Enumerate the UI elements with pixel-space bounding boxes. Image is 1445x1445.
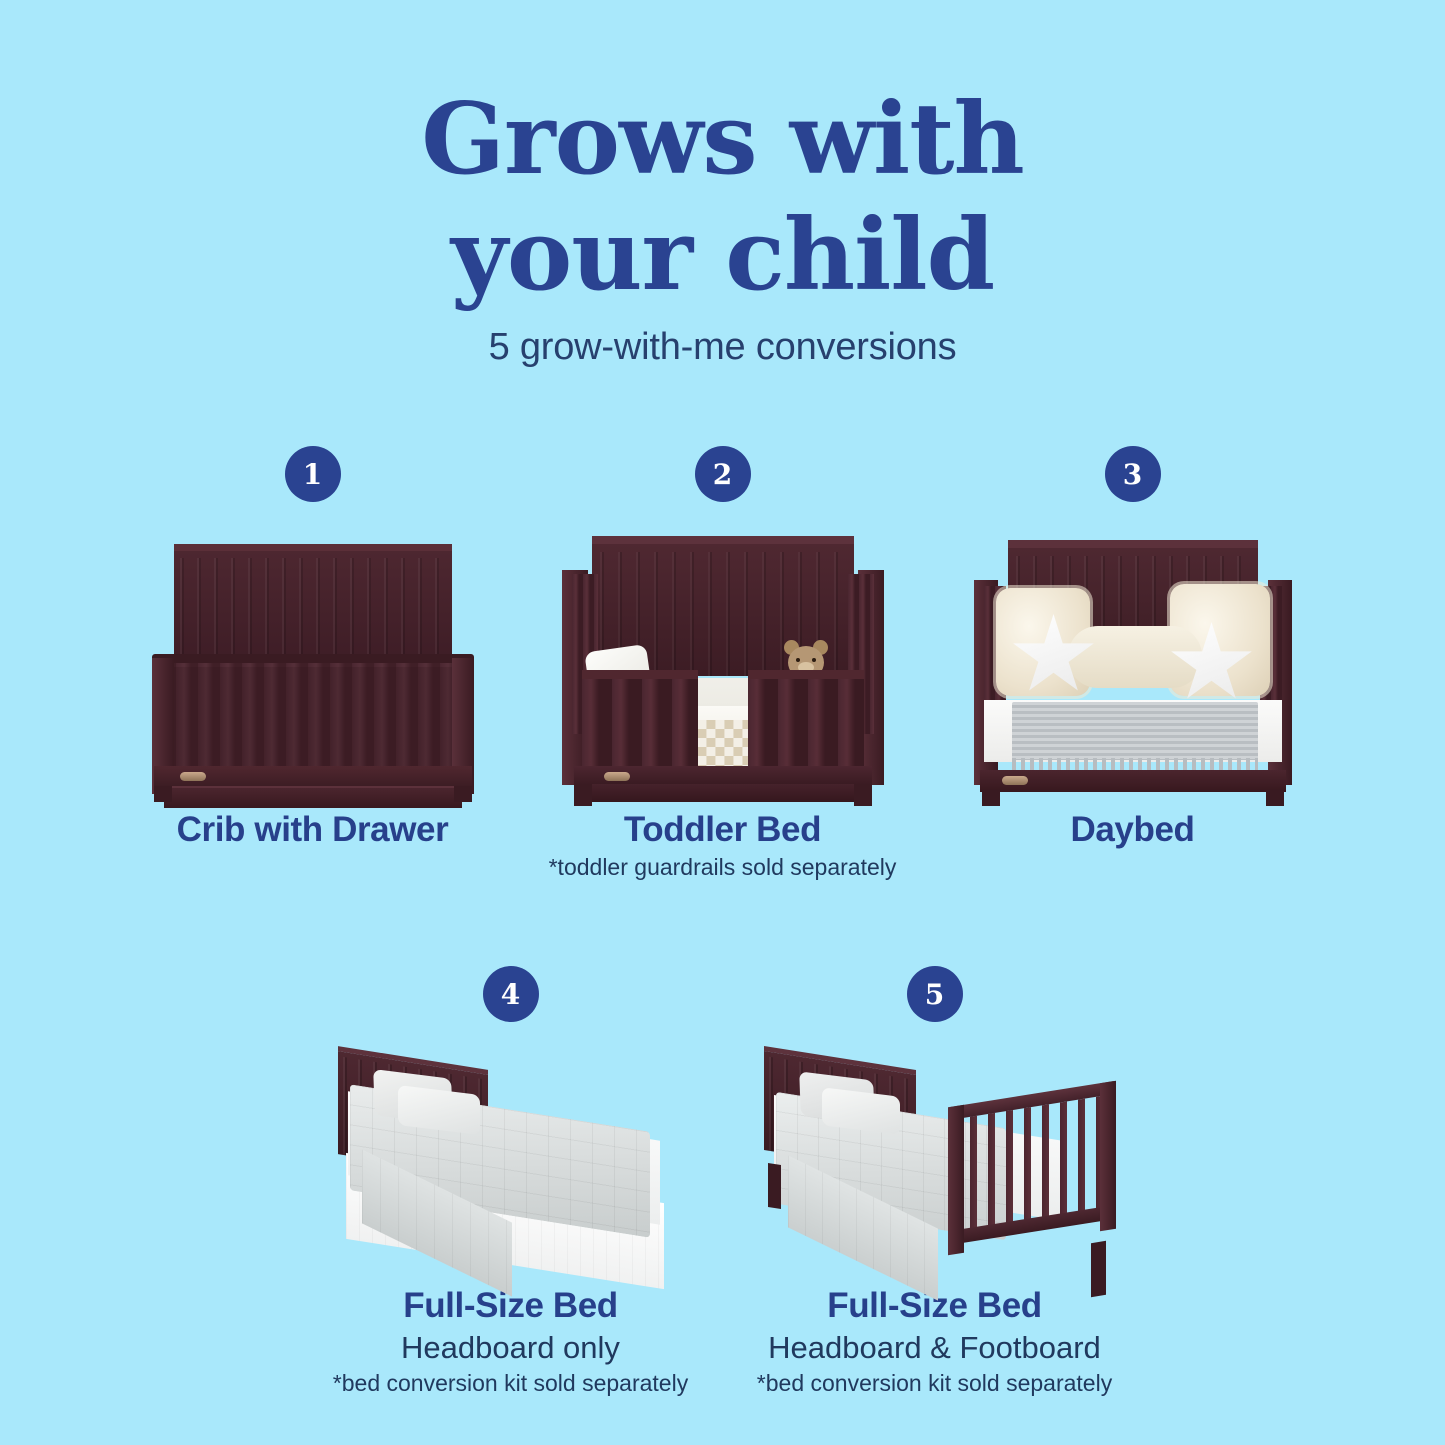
step-badge-4: 4 [483, 966, 539, 1022]
conversion-caption-2: Toddler Bed *toddler guardrails sold sep… [549, 810, 897, 882]
conversion-title-1: Crib with Drawer [177, 810, 449, 850]
step-badge-1: 1 [285, 446, 341, 502]
toddler-leg-left [574, 784, 592, 806]
conversion-item-3: 3 [928, 446, 1338, 882]
conversion-item-1: 1 Crib w [108, 446, 518, 882]
crib-leg-right [454, 786, 472, 802]
conversion-item-2: 2 [518, 446, 928, 882]
conversion-caption-5: Full-Size Bed Headboard & Footboard *bed… [757, 1286, 1112, 1398]
crib-leg-left [154, 786, 172, 802]
brand-plaque-icon [604, 772, 630, 781]
daybed-leg-right [1266, 790, 1284, 806]
conversion-note-5: *bed conversion kit sold separately [757, 1370, 1112, 1398]
infographic-canvas: Grows with your child 5 grow-with-me con… [0, 0, 1445, 1445]
conversion-subtitle-4: Headboard only [333, 1329, 688, 1366]
page-subtitle: 5 grow-with-me conversions [0, 326, 1445, 369]
toddler-bed-image [558, 530, 888, 802]
conversions-row-bottom: 4 Full-Size Bed Headboard only *bed conv… [0, 966, 1445, 1398]
crib-front-rail [154, 766, 472, 788]
step-badge-5: 5 [907, 966, 963, 1022]
toddler-guardrail-right [748, 670, 864, 770]
toddler-front-rail [574, 766, 872, 786]
conversions-row-top: 1 Crib w [0, 446, 1445, 882]
full-bed-footboard [948, 1081, 1116, 1256]
toddler-base-panel [592, 784, 854, 802]
daybed-image [968, 530, 1298, 802]
conversion-note-2: *toddler guardrails sold separately [549, 854, 897, 882]
conversion-title-3: Daybed [1070, 810, 1194, 850]
crib-back-panel [174, 544, 452, 662]
conversion-caption-4: Full-Size Bed Headboard only *bed conver… [333, 1286, 688, 1398]
conversion-caption-3: Daybed [1070, 810, 1194, 850]
full-size-bed-headboard-footboard-image [740, 1046, 1130, 1278]
daybed-leg-left [982, 790, 1000, 806]
full-size-bed-headboard-image [316, 1046, 706, 1278]
full-bed-headboard-leg [768, 1163, 781, 1209]
step-badge-3: 3 [1105, 446, 1161, 502]
conversion-title-2: Toddler Bed [549, 810, 897, 850]
step-badge-2: 2 [695, 446, 751, 502]
brand-plaque-icon [1002, 776, 1028, 785]
conversion-caption-1: Crib with Drawer [177, 810, 449, 850]
conversion-note-4: *bed conversion kit sold separately [333, 1370, 688, 1398]
toddler-guardrail-left [582, 670, 698, 770]
conversion-subtitle-5: Headboard & Footboard [757, 1329, 1112, 1366]
daybed-striped-blanket [1012, 702, 1258, 760]
brand-plaque-icon [180, 772, 206, 781]
daybed-front-rail [980, 770, 1286, 792]
conversion-item-4: 4 Full-Size Bed Headboard only *bed conv… [299, 966, 723, 1398]
toddler-leg-right [854, 784, 872, 806]
page-title: Grows with your child [0, 82, 1445, 313]
crib-with-drawer-image [148, 530, 478, 802]
conversion-item-5: 5 [723, 966, 1147, 1398]
full-bed-footboard-leg [1091, 1241, 1106, 1297]
